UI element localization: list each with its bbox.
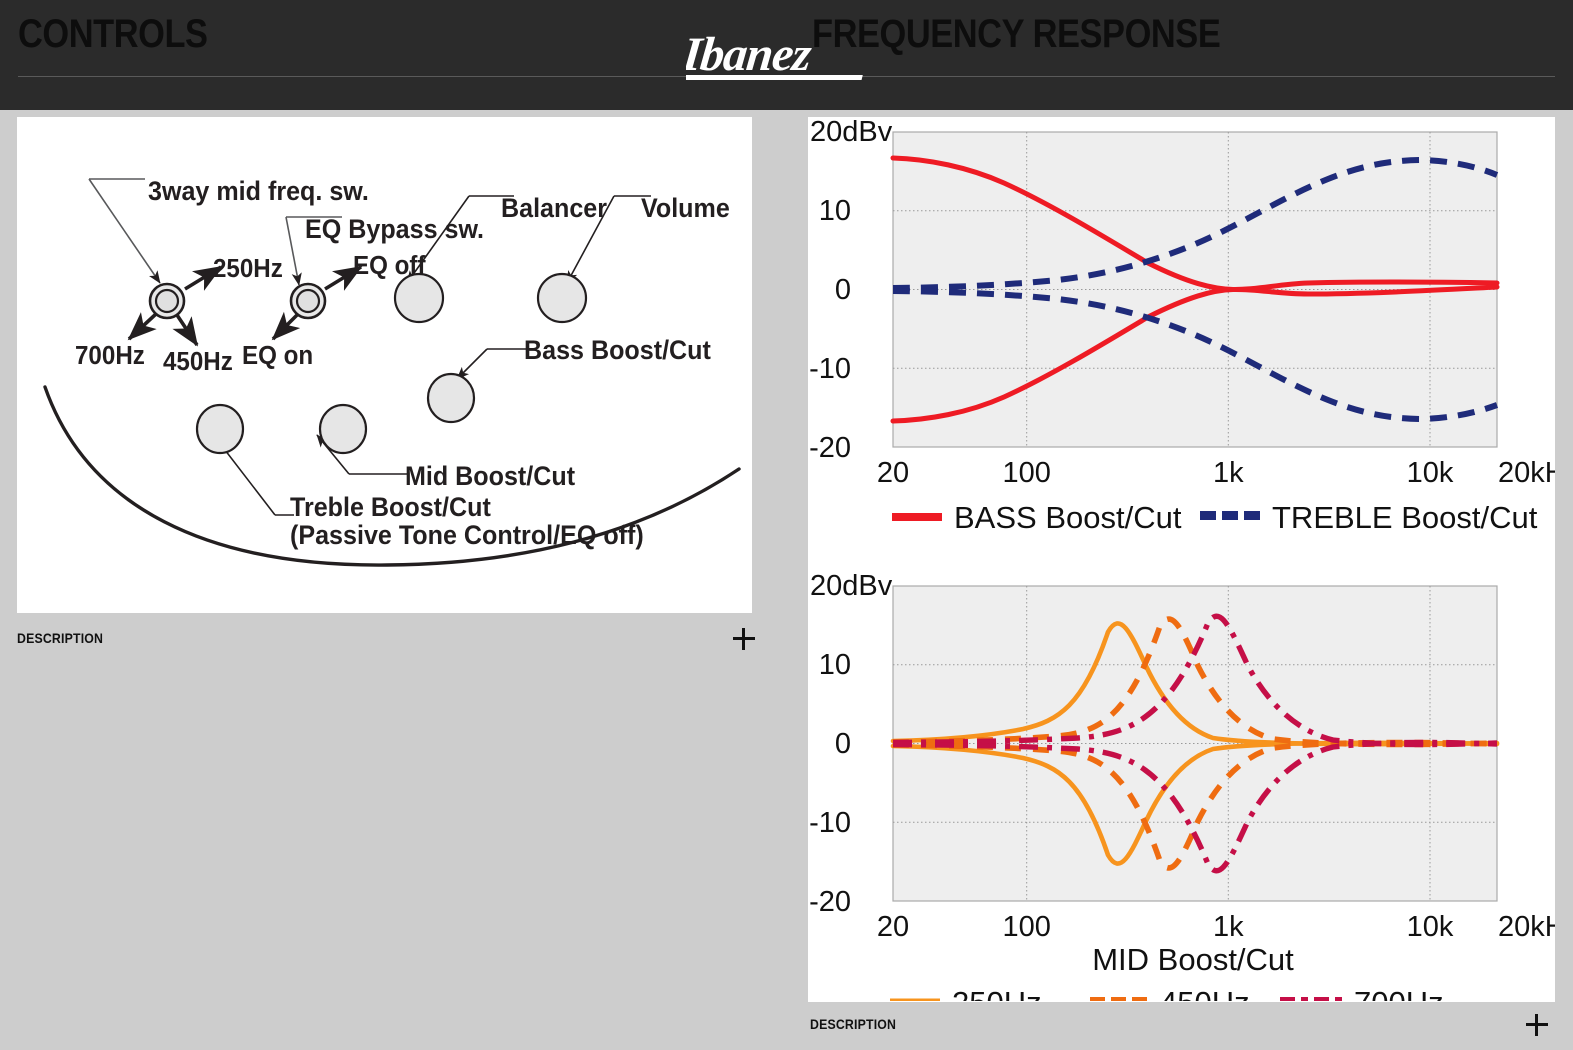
x-tick-2-20: 20 [877,911,909,943]
frequency-response-panel: 20dBv 10 0 -10 -20 20 100 1k 10k 20kHz B… [808,117,1555,1001]
legend-label-450: 450Hz [1160,985,1250,1001]
x-tick-1-20: 20 [877,457,909,489]
y-axis-title-1: 20dBv [810,117,893,148]
controls-diagram: 3way mid freq. sw. EQ Bypass sw. Balance… [17,117,752,613]
x-tick-2-1k: 1k [1213,911,1244,943]
treble-knob [197,405,243,453]
legend-swatch-treble [1200,511,1260,520]
y-tick-1-minus20: -20 [809,432,851,464]
label-treble-boost-cut: Treble Boost/Cut [290,491,491,522]
y-tick-2-minus10: -10 [809,807,851,839]
header-divider-left [18,76,784,77]
label-700hz: 700Hz [75,341,145,370]
legend-chart-1: BASS Boost/Cut TREBLE Boost/Cut [892,500,1538,535]
label-balancer: Balancer [501,192,607,223]
x-tick-1-100: 100 [1003,457,1051,489]
label-eq-bypass-sw: EQ Bypass sw. [305,213,484,244]
label-passive-tone-control: (Passive Tone Control/EQ off) [290,519,644,550]
label-eq-on: EQ on [242,341,313,370]
y-tick-2-minus20: -20 [809,886,851,918]
y-tick-2-10: 10 [819,649,851,681]
y-tick-1-0: 0 [835,274,851,306]
three-way-switch-knob [150,284,184,318]
x-tick-1-1k: 1k [1213,457,1244,489]
y-tick-1-10: 10 [819,195,851,227]
leader-bass-arrow [457,349,487,379]
description-label-controls: DESCRIPTION [17,630,103,646]
legend-label-250: 250Hz [952,985,1042,1001]
x-tick-2-100: 100 [1003,911,1051,943]
label-eq-off: EQ off [353,251,426,280]
x-tick-2-20khz: 20kHz [1498,911,1555,943]
description-section-controls[interactable] [17,625,752,657]
x-tick-1-20khz: 20kHz [1498,457,1555,489]
label-mid-boost-cut: Mid Boost/Cut [405,460,575,491]
arrow-700hz [129,313,157,339]
ibanez-logo: Ibanez Ibanez [686,26,882,84]
legend-label-700: 700Hz [1354,985,1444,1001]
mid-knob [320,405,366,453]
description-divider-right [808,1001,1555,1002]
chart-mid: 20dBv 10 0 -10 -20 20 100 1k 10k 20kHz M… [808,571,1555,1001]
balancer-knob [395,274,443,322]
leader-eqbypass-arrow [286,217,299,285]
x-tick-2-10k: 10k [1407,911,1454,943]
page-header: CONTROLS FREQUENCY RESPONSE Ibanez Ibane… [0,0,1573,110]
legend-chart-2: 250Hz 450Hz 700Hz [890,985,1444,1001]
controls-diagram-panel: 3way mid freq. sw. EQ Bypass sw. Balance… [17,117,752,613]
eq-bypass-switch-knob [291,284,325,318]
plus-icon[interactable] [1526,1014,1548,1036]
legend-label-treble: TREBLE Boost/Cut [1272,500,1538,535]
volume-knob [538,274,586,322]
y-tick-2-0: 0 [835,728,851,760]
y-tick-1-minus10: -10 [809,353,851,385]
description-label-frequency: DESCRIPTION [810,1016,896,1032]
description-section-frequency[interactable] [808,1005,1555,1050]
page-title-controls: CONTROLS [18,12,208,57]
y-axis-title-2: 20dBv [810,571,893,602]
chart-bass-treble: 20dBv 10 0 -10 -20 20 100 1k 10k 20kHz B… [808,117,1555,557]
bass-knob [428,374,474,422]
label-450hz: 450Hz [163,347,233,376]
svg-text:Ibanez: Ibanez [686,28,814,81]
plus-icon[interactable] [733,628,755,650]
x-tick-1-10k: 10k [1407,457,1454,489]
label-volume: Volume [641,192,730,223]
arrow-eq-on [273,313,299,339]
arrow-450hz [177,315,197,345]
header-divider-right [812,76,1555,77]
ibanez-logo-text: Ibanez [686,84,687,85]
label-3way-mid-freq-sw: 3way mid freq. sw. [148,175,369,206]
label-bass-boost-cut: Bass Boost/Cut [524,334,711,365]
label-250hz: 250Hz [213,254,283,283]
x-axis-title-mid: MID Boost/Cut [1092,942,1294,977]
legend-label-bass: BASS Boost/Cut [954,500,1182,535]
